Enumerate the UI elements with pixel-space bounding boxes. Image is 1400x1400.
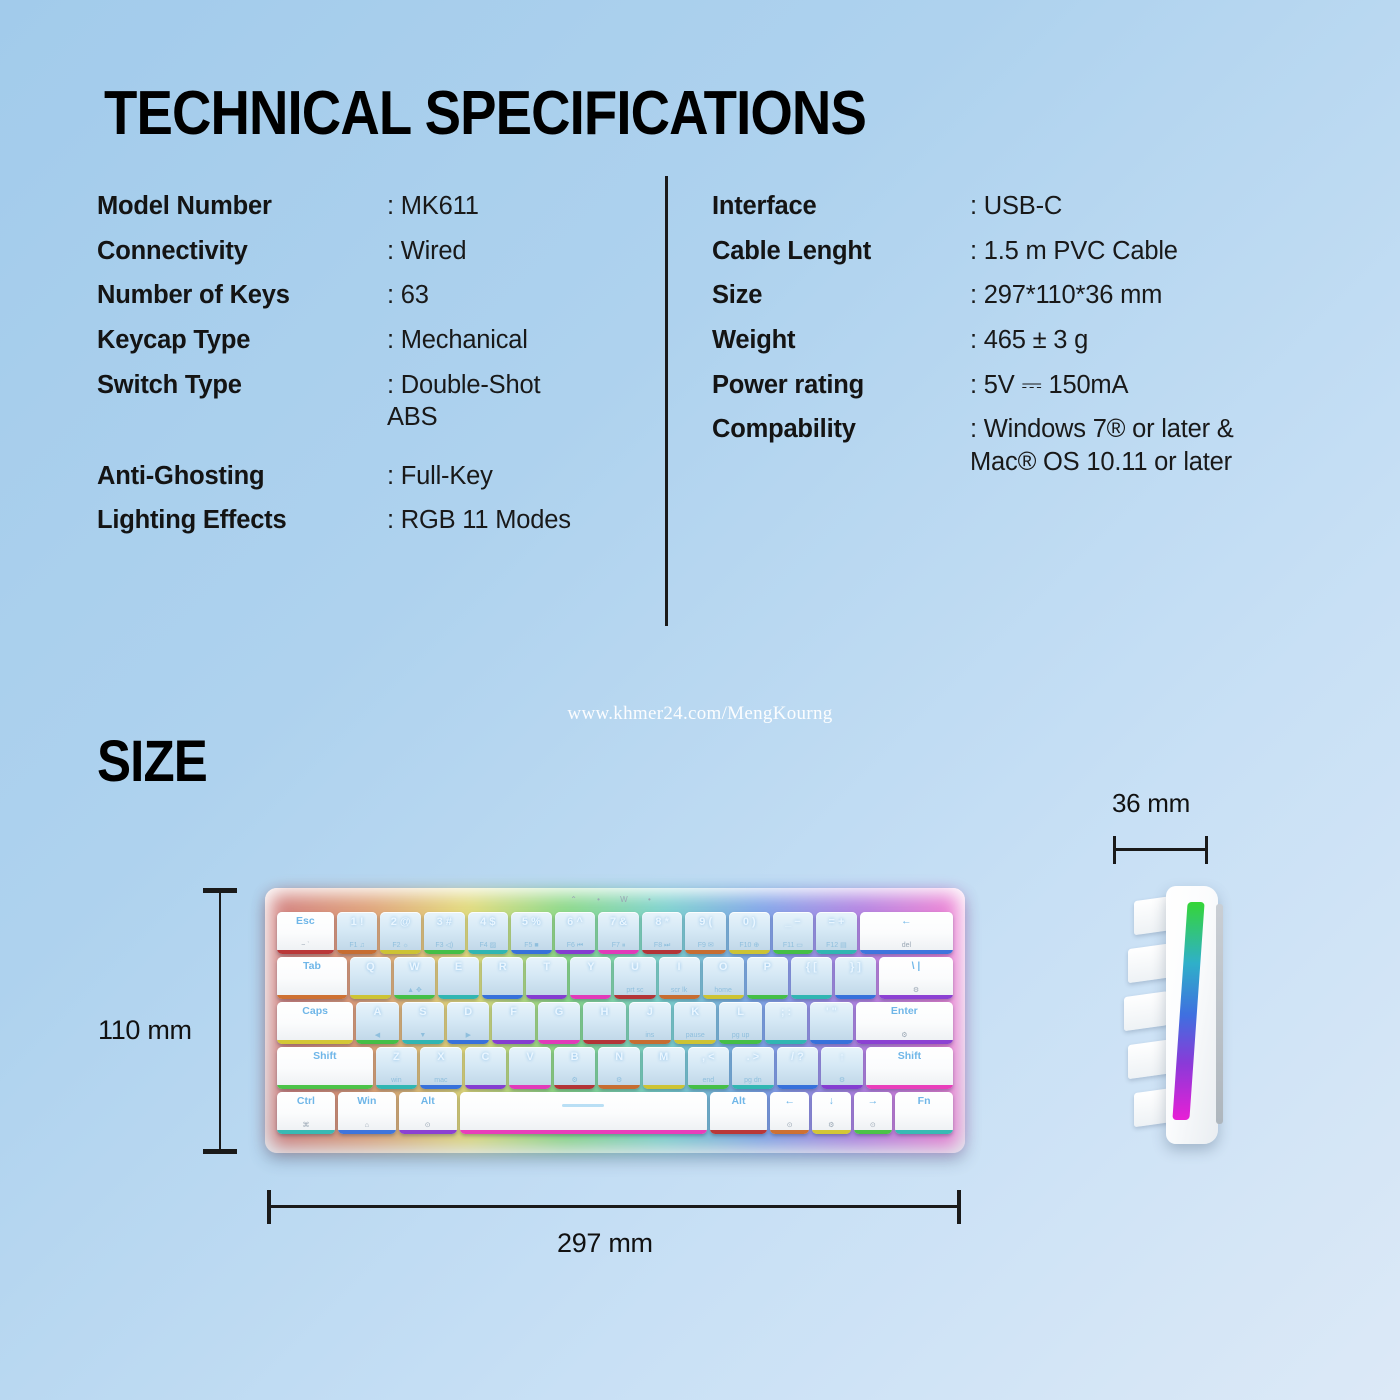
key-legend-secondary: ⚙	[598, 1077, 640, 1085]
key-rgb-glow	[376, 1085, 418, 1089]
key-space[interactable]: ↑⚙	[821, 1047, 863, 1089]
key-rgb-glow	[468, 950, 509, 954]
key-rgb-glow	[812, 1130, 851, 1134]
key-legend-secondary: scr lk	[659, 987, 700, 995]
keyboard-key-grid: Esc~ `1 !F1 ♫2 @F2 ☼3 #F3 ◁)4 $F4 ▨5 %F5…	[277, 912, 953, 1134]
side-keycap	[1124, 991, 1170, 1031]
key-legend-primary: X	[420, 1051, 462, 1063]
spec-value: : 5V ⎓ 150mA	[970, 369, 1128, 402]
key-2[interactable]: 2 @F2 ☼	[380, 912, 421, 954]
key-legend-secondary: ~ `	[277, 942, 334, 950]
key-win[interactable]: Win⌂	[338, 1092, 396, 1134]
key-rgb-glow	[629, 1040, 671, 1044]
dimension-label-width: 297 mm	[557, 1228, 653, 1259]
spec-row: Interface: USB-C	[712, 190, 1332, 223]
key-legend-primary: = +	[816, 916, 857, 928]
key-legend-secondary: F5 ■	[511, 942, 552, 950]
key-rgb-glow	[492, 1040, 534, 1044]
key-y[interactable]: Y	[570, 957, 611, 999]
spec-value: : Double-Shot ABS	[387, 369, 540, 434]
key-space[interactable]: ←⊙	[770, 1092, 809, 1134]
keyboard-row: TabQW▲ ✥ERTYUprt scIscr lkOhomeP{ [} ]\ …	[277, 957, 953, 999]
key-legend-secondary: pause	[674, 1032, 716, 1040]
key-legend-primary: V	[509, 1051, 551, 1063]
spec-value: : 465 ± 3 g	[970, 324, 1088, 357]
key-legend-secondary: ⚙	[821, 1077, 863, 1085]
key-rgb-glow	[879, 995, 953, 999]
key-rgb-glow	[402, 1040, 444, 1044]
key-legend-primary: A	[356, 1006, 398, 1018]
key-legend-secondary: F7 ⏸	[598, 942, 639, 950]
key-rgb-glow	[729, 950, 770, 954]
key-rgb-glow	[482, 995, 523, 999]
key-legend-primary: / ?	[777, 1051, 819, 1063]
key-rgb-glow	[866, 1085, 953, 1089]
spec-label: Connectivity	[97, 235, 387, 268]
key-legend-secondary: ⚙	[812, 1122, 851, 1130]
key-7[interactable]: 7 &F7 ⏸	[598, 912, 639, 954]
key-legend-primary: D	[447, 1006, 489, 1018]
key-rgb-glow	[424, 950, 465, 954]
key-legend-primary: E	[438, 961, 479, 973]
key-rgb-glow	[674, 1040, 716, 1044]
spec-label: Switch Type	[97, 369, 387, 402]
key-rgb-glow	[277, 995, 347, 999]
spec-value: : Full-Key	[387, 460, 493, 493]
key-z[interactable]: Zwin	[376, 1047, 418, 1089]
key-alt[interactable]: Alt⊙	[399, 1092, 457, 1134]
spec-column-right: Interface: USB-CCable Lenght: 1.5 m PVC …	[712, 190, 1332, 490]
key-rgb-glow	[710, 1130, 768, 1134]
spec-column-left: Model Number: MK611Connectivity: WiredNu…	[97, 190, 657, 549]
key-legend-secondary: F9 ✉	[685, 942, 726, 950]
key-rgb-glow	[895, 1130, 953, 1134]
key-k[interactable]: Kpause	[674, 1002, 716, 1044]
spec-label: Compability	[712, 413, 970, 446]
key-legend-primary: ←	[860, 916, 953, 928]
key-legend-primary: 2 @	[380, 916, 421, 928]
key-legend-secondary: pg up	[719, 1032, 761, 1040]
key-legend-secondary: win	[376, 1077, 418, 1085]
key-4[interactable]: 4 $F4 ▨	[468, 912, 509, 954]
key-legend-secondary: ⌂	[338, 1122, 396, 1130]
key-h[interactable]: H	[583, 1002, 625, 1044]
key-legend-primary: Ctrl	[277, 1096, 335, 1108]
keyboard-row: Esc~ `1 !F1 ♫2 @F2 ☼3 #F3 ◁)4 $F4 ▨5 %F5…	[277, 912, 953, 954]
key-legend-primary: L	[719, 1006, 761, 1018]
key-rgb-glow	[570, 995, 611, 999]
key-8[interactable]: 8 *F8 ⏭	[642, 912, 683, 954]
key-tab[interactable]: Tab	[277, 957, 347, 999]
spec-row: Number of Keys: 63	[97, 279, 657, 312]
key-rgb-glow	[856, 1040, 953, 1044]
key-a[interactable]: A◀	[356, 1002, 398, 1044]
key-legend-primary: N	[598, 1051, 640, 1063]
key-legend-secondary: F11 ▭	[773, 942, 814, 950]
key-space[interactable]: _ −F11 ▭	[773, 912, 814, 954]
spec-row: Size: 297*110*36 mm	[712, 279, 1332, 312]
key-rgb-glow	[732, 1085, 774, 1089]
key-legend-primary: 0 )	[729, 916, 770, 928]
key-legend-primary: Caps	[277, 1006, 353, 1018]
spec-row: Connectivity: Wired	[97, 235, 657, 268]
spec-row: Lighting Effects: RGB 11 Modes	[97, 504, 657, 537]
key-rgb-glow	[526, 995, 567, 999]
key-legend-primary: 5 %	[511, 916, 552, 928]
key-legend-secondary: F12 ▤	[816, 942, 857, 950]
key-legend-secondary: ▼	[402, 1032, 444, 1040]
key-space[interactable]: = +F12 ▤	[816, 912, 857, 954]
spec-row: Compability: Windows 7® or later & Mac® …	[712, 413, 1332, 478]
key-u[interactable]: Uprt sc	[614, 957, 655, 999]
key-shift[interactable]: Shift	[866, 1047, 953, 1089]
key-legend-primary: K	[674, 1006, 716, 1018]
key-s[interactable]: S▼	[402, 1002, 444, 1044]
spec-label: Power rating	[712, 369, 970, 402]
spacebar-marking	[562, 1104, 604, 1107]
key-rgb-glow	[791, 995, 832, 999]
key-legend-primary: T	[526, 961, 567, 973]
key-m[interactable]: M	[643, 1047, 685, 1089]
key-legend-primary: ' "	[810, 1006, 852, 1018]
key-rgb-glow	[420, 1085, 462, 1089]
key-r[interactable]: R	[482, 957, 523, 999]
key-legend-primary: 6 ^	[555, 916, 596, 928]
key-t[interactable]: T	[526, 957, 567, 999]
key-legend-primary: Y	[570, 961, 611, 973]
keyboard-status-indicators: ⌃ • W •	[265, 895, 965, 904]
key-space[interactable]: . >pg dn	[732, 1047, 774, 1089]
key-legend-primary: Alt	[710, 1096, 768, 1108]
key-rgb-glow	[350, 995, 391, 999]
key-rgb-glow	[659, 995, 700, 999]
key-legend-primary: H	[583, 1006, 625, 1018]
key-space[interactable]: , <end	[688, 1047, 730, 1089]
key-c[interactable]: C	[465, 1047, 507, 1089]
key-rgb-glow	[583, 1040, 625, 1044]
key-legend-primary: \ |	[879, 961, 953, 973]
key-legend-primary: Enter	[856, 1006, 953, 1018]
key-legend-primary: 9 (	[685, 916, 726, 928]
key-legend-secondary: ⊙	[770, 1122, 809, 1130]
dimension-label-depth: 36 mm	[1112, 788, 1190, 819]
spec-label: Number of Keys	[97, 279, 387, 312]
spec-value: : USB-C	[970, 190, 1062, 223]
key-legend-secondary: ins	[629, 1032, 671, 1040]
key-rgb-glow	[509, 1085, 551, 1089]
key-legend-secondary: F8 ⏭	[642, 942, 683, 950]
key-legend-primary: 3 #	[424, 916, 465, 928]
key-q[interactable]: Q	[350, 957, 391, 999]
key-legend-primary: } ]	[835, 961, 876, 973]
key-legend-primary: Z	[376, 1051, 418, 1063]
key-legend-secondary: F10 ⊕	[729, 942, 770, 950]
key-space[interactable]: →⊙	[854, 1092, 893, 1134]
spec-value: : Mechanical	[387, 324, 528, 357]
key-g[interactable]: G	[538, 1002, 580, 1044]
spec-row: Anti-Ghosting: Full-Key	[97, 460, 657, 493]
key-legend-primary: J	[629, 1006, 671, 1018]
key-rgb-glow	[356, 1040, 398, 1044]
key-legend-primary: 8 *	[642, 916, 683, 928]
key-legend-secondary: F1 ♫	[337, 942, 378, 950]
keyboard-row: Ctrl⌘Win⌂Alt⊙Alt←⊙↓⚙→⊙Fn	[277, 1092, 953, 1134]
key-rgb-glow	[511, 950, 552, 954]
key-legend-primary: B	[554, 1051, 596, 1063]
key-legend-primary: W	[394, 961, 435, 973]
key-rgb-glow	[337, 950, 378, 954]
key-rgb-glow	[598, 1085, 640, 1089]
key-legend-secondary: prt sc	[614, 987, 655, 995]
key-legend-secondary: ◀	[356, 1032, 398, 1040]
key-space[interactable]: \ |⚙	[879, 957, 953, 999]
spec-label: Anti-Ghosting	[97, 460, 387, 493]
key-j[interactable]: Jins	[629, 1002, 671, 1044]
spec-row: Model Number: MK611	[97, 190, 657, 223]
side-back-edge	[1216, 904, 1223, 1124]
key-legend-secondary: home	[703, 987, 744, 995]
key-rgb-glow	[277, 1130, 335, 1134]
keyboard-top-view: ⌃ • W • Esc~ `1 !F1 ♫2 @F2 ☼3 #F3 ◁)4 $F…	[265, 888, 965, 1153]
key-legend-primary: G	[538, 1006, 580, 1018]
spec-value: : Windows 7® or later & Mac® OS 10.11 or…	[970, 413, 1234, 478]
spec-row: Cable Lenght: 1.5 m PVC Cable	[712, 235, 1332, 268]
spec-value: : Wired	[387, 235, 466, 268]
key-rgb-glow	[438, 995, 479, 999]
key-legend-primary: _ −	[773, 916, 814, 928]
spec-value: : 63	[387, 279, 429, 312]
spec-row: Keycap Type: Mechanical	[97, 324, 657, 357]
key-rgb-glow	[643, 1085, 685, 1089]
key-rgb-glow	[642, 950, 683, 954]
dimension-line-horizontal	[268, 1205, 960, 1208]
key-rgb-glow	[821, 1085, 863, 1089]
key-rgb-glow	[465, 1085, 507, 1089]
spec-label: Keycap Type	[97, 324, 387, 357]
key-rgb-glow	[703, 995, 744, 999]
column-divider	[665, 176, 668, 626]
key-rgb-glow	[777, 1085, 819, 1089]
key-space[interactable]: ; :	[765, 1002, 807, 1044]
key-b[interactable]: B⚙	[554, 1047, 596, 1089]
key-rgb-glow	[380, 950, 421, 954]
spec-label: Model Number	[97, 190, 387, 223]
keyboard-side-view	[1120, 880, 1230, 1150]
key-legend-secondary: ⚙	[856, 1032, 953, 1040]
key-legend-primary: 1 !	[337, 916, 378, 928]
key-legend-primary: M	[643, 1051, 685, 1063]
key-rgb-glow	[747, 995, 788, 999]
key-rgb-glow	[860, 950, 953, 954]
key-legend-secondary: F2 ☼	[380, 942, 421, 950]
key-legend-primary: Tab	[277, 961, 347, 973]
key-5[interactable]: 5 %F5 ■	[511, 912, 552, 954]
spec-value: : 1.5 m PVC Cable	[970, 235, 1178, 268]
key-rgb-glow	[447, 1040, 489, 1044]
key-space[interactable]	[460, 1092, 707, 1134]
key-legend-primary: ←	[770, 1096, 809, 1108]
spec-row: Power rating: 5V ⎓ 150mA	[712, 369, 1332, 402]
key-legend-secondary: F6 ⏮	[555, 942, 596, 950]
spec-row: Switch Type: Double-Shot ABS	[97, 369, 657, 434]
key-9[interactable]: 9 (F9 ✉	[685, 912, 726, 954]
key-legend-secondary: ▶	[447, 1032, 489, 1040]
key-ctrl[interactable]: Ctrl⌘	[277, 1092, 335, 1134]
spec-value: : MK611	[387, 190, 479, 223]
key-legend-secondary: del	[860, 942, 953, 950]
keyboard-row: CapsA◀S▼D▶FGHJinsKpauseLpg up; :' "Enter…	[277, 1002, 953, 1044]
key-rgb-glow	[394, 995, 435, 999]
key-legend-primary: Shift	[277, 1051, 373, 1063]
spec-label: Lighting Effects	[97, 504, 387, 537]
key-legend-secondary: ⌘	[277, 1122, 335, 1130]
key-space[interactable]: ←del	[860, 912, 953, 954]
key-space[interactable]: } ]	[835, 957, 876, 999]
key-legend-primary: . >	[732, 1051, 774, 1063]
key-rgb-glow	[277, 1040, 353, 1044]
key-w[interactable]: W▲ ✥	[394, 957, 435, 999]
key-legend-primary: , <	[688, 1051, 730, 1063]
key-legend-primary: { [	[791, 961, 832, 973]
key-d[interactable]: D▶	[447, 1002, 489, 1044]
key-legend-secondary: ▲ ✥	[394, 987, 435, 995]
key-legend-primary: →	[854, 1096, 893, 1108]
key-enter[interactable]: Enter⚙	[856, 1002, 953, 1044]
key-space[interactable]: ' "	[810, 1002, 852, 1044]
spec-value: : RGB 11 Modes	[387, 504, 571, 537]
key-rgb-glow	[773, 950, 814, 954]
size-section-heading: SIZE	[97, 728, 207, 795]
key-0[interactable]: 0 )F10 ⊕	[729, 912, 770, 954]
key-f[interactable]: F	[492, 1002, 534, 1044]
key-rgb-glow	[555, 950, 596, 954]
key-legend-secondary: F3 ◁)	[424, 942, 465, 950]
key-x[interactable]: Xmac	[420, 1047, 462, 1089]
key-legend-primary: Shift	[866, 1051, 953, 1063]
key-caps[interactable]: Caps	[277, 1002, 353, 1044]
key-legend-primary: Fn	[895, 1096, 953, 1108]
key-v[interactable]: V	[509, 1047, 551, 1089]
watermark: www.khmer24.com/MengKourng	[0, 703, 1400, 725]
key-space[interactable]: { [	[791, 957, 832, 999]
key-rgb-glow	[277, 950, 334, 954]
key-rgb-glow	[719, 1040, 761, 1044]
key-rgb-glow	[810, 1040, 852, 1044]
spec-label: Weight	[712, 324, 970, 357]
key-legend-secondary: ⊙	[854, 1122, 893, 1130]
key-rgb-glow	[399, 1130, 457, 1134]
key-legend-secondary: mac	[420, 1077, 462, 1085]
spec-label: Cable Lenght	[712, 235, 970, 268]
key-legend-primary: ; :	[765, 1006, 807, 1018]
key-legend-primary: Win	[338, 1096, 396, 1108]
key-rgb-glow	[614, 995, 655, 999]
key-legend-secondary: F4 ▨	[468, 942, 509, 950]
dimension-label-height: 110 mm	[98, 1015, 192, 1046]
key-rgb-glow	[688, 1085, 730, 1089]
key-legend-primary: Q	[350, 961, 391, 973]
key-shift[interactable]: Shift	[277, 1047, 373, 1089]
key-space[interactable]: / ?	[777, 1047, 819, 1089]
dimension-line-vertical	[219, 890, 221, 1152]
key-legend-primary: Alt	[399, 1096, 457, 1108]
page-title: TECHNICAL SPECIFICATIONS	[104, 78, 866, 149]
key-1[interactable]: 1 !F1 ♫	[337, 912, 378, 954]
spec-label: Size	[712, 279, 970, 312]
key-legend-primary: Esc	[277, 916, 334, 928]
key-legend-primary: C	[465, 1051, 507, 1063]
key-legend-secondary: ⚙	[879, 987, 953, 995]
key-legend-secondary: ⊙	[399, 1122, 457, 1130]
key-rgb-glow	[835, 995, 876, 999]
key-legend-secondary: end	[688, 1077, 730, 1085]
key-fn[interactable]: Fn	[895, 1092, 953, 1134]
key-rgb-glow	[338, 1130, 396, 1134]
key-rgb-glow	[765, 1040, 807, 1044]
key-3[interactable]: 3 #F3 ◁)	[424, 912, 465, 954]
spec-row: Weight: 465 ± 3 g	[712, 324, 1332, 357]
key-p[interactable]: P	[747, 957, 788, 999]
key-rgb-glow	[685, 950, 726, 954]
key-legend-primary: ↓	[812, 1096, 851, 1108]
key-legend-primary: O	[703, 961, 744, 973]
key-rgb-glow	[538, 1040, 580, 1044]
key-rgb-glow	[460, 1130, 707, 1134]
key-legend-primary: 7 &	[598, 916, 639, 928]
key-legend-primary: ↑	[821, 1051, 863, 1063]
key-l[interactable]: Lpg up	[719, 1002, 761, 1044]
dimension-line-side	[1113, 848, 1208, 851]
key-rgb-glow	[770, 1130, 809, 1134]
keyboard-row: ShiftZwinXmacCVB⚙N⚙M, <end. >pg dn/ ?↑⚙S…	[277, 1047, 953, 1089]
key-rgb-glow	[598, 950, 639, 954]
key-rgb-glow	[277, 1085, 373, 1089]
key-legend-secondary: ⚙	[554, 1077, 596, 1085]
key-legend-primary: F	[492, 1006, 534, 1018]
spec-label: Interface	[712, 190, 970, 223]
key-alt[interactable]: Alt	[710, 1092, 768, 1134]
key-legend-primary: P	[747, 961, 788, 973]
key-e[interactable]: E	[438, 957, 479, 999]
key-legend-primary: 4 $	[468, 916, 509, 928]
key-legend-primary: I	[659, 961, 700, 973]
key-esc[interactable]: Esc~ `	[277, 912, 334, 954]
key-i[interactable]: Iscr lk	[659, 957, 700, 999]
spec-value: : 297*110*36 mm	[970, 279, 1162, 312]
key-space[interactable]: ↓⚙	[812, 1092, 851, 1134]
key-legend-primary: R	[482, 961, 523, 973]
key-rgb-glow	[854, 1130, 893, 1134]
key-legend-secondary: pg dn	[732, 1077, 774, 1085]
key-n[interactable]: N⚙	[598, 1047, 640, 1089]
key-rgb-glow	[816, 950, 857, 954]
key-o[interactable]: Ohome	[703, 957, 744, 999]
key-rgb-glow	[554, 1085, 596, 1089]
key-legend-primary: U	[614, 961, 655, 973]
key-legend-primary: S	[402, 1006, 444, 1018]
key-6[interactable]: 6 ^F6 ⏮	[555, 912, 596, 954]
